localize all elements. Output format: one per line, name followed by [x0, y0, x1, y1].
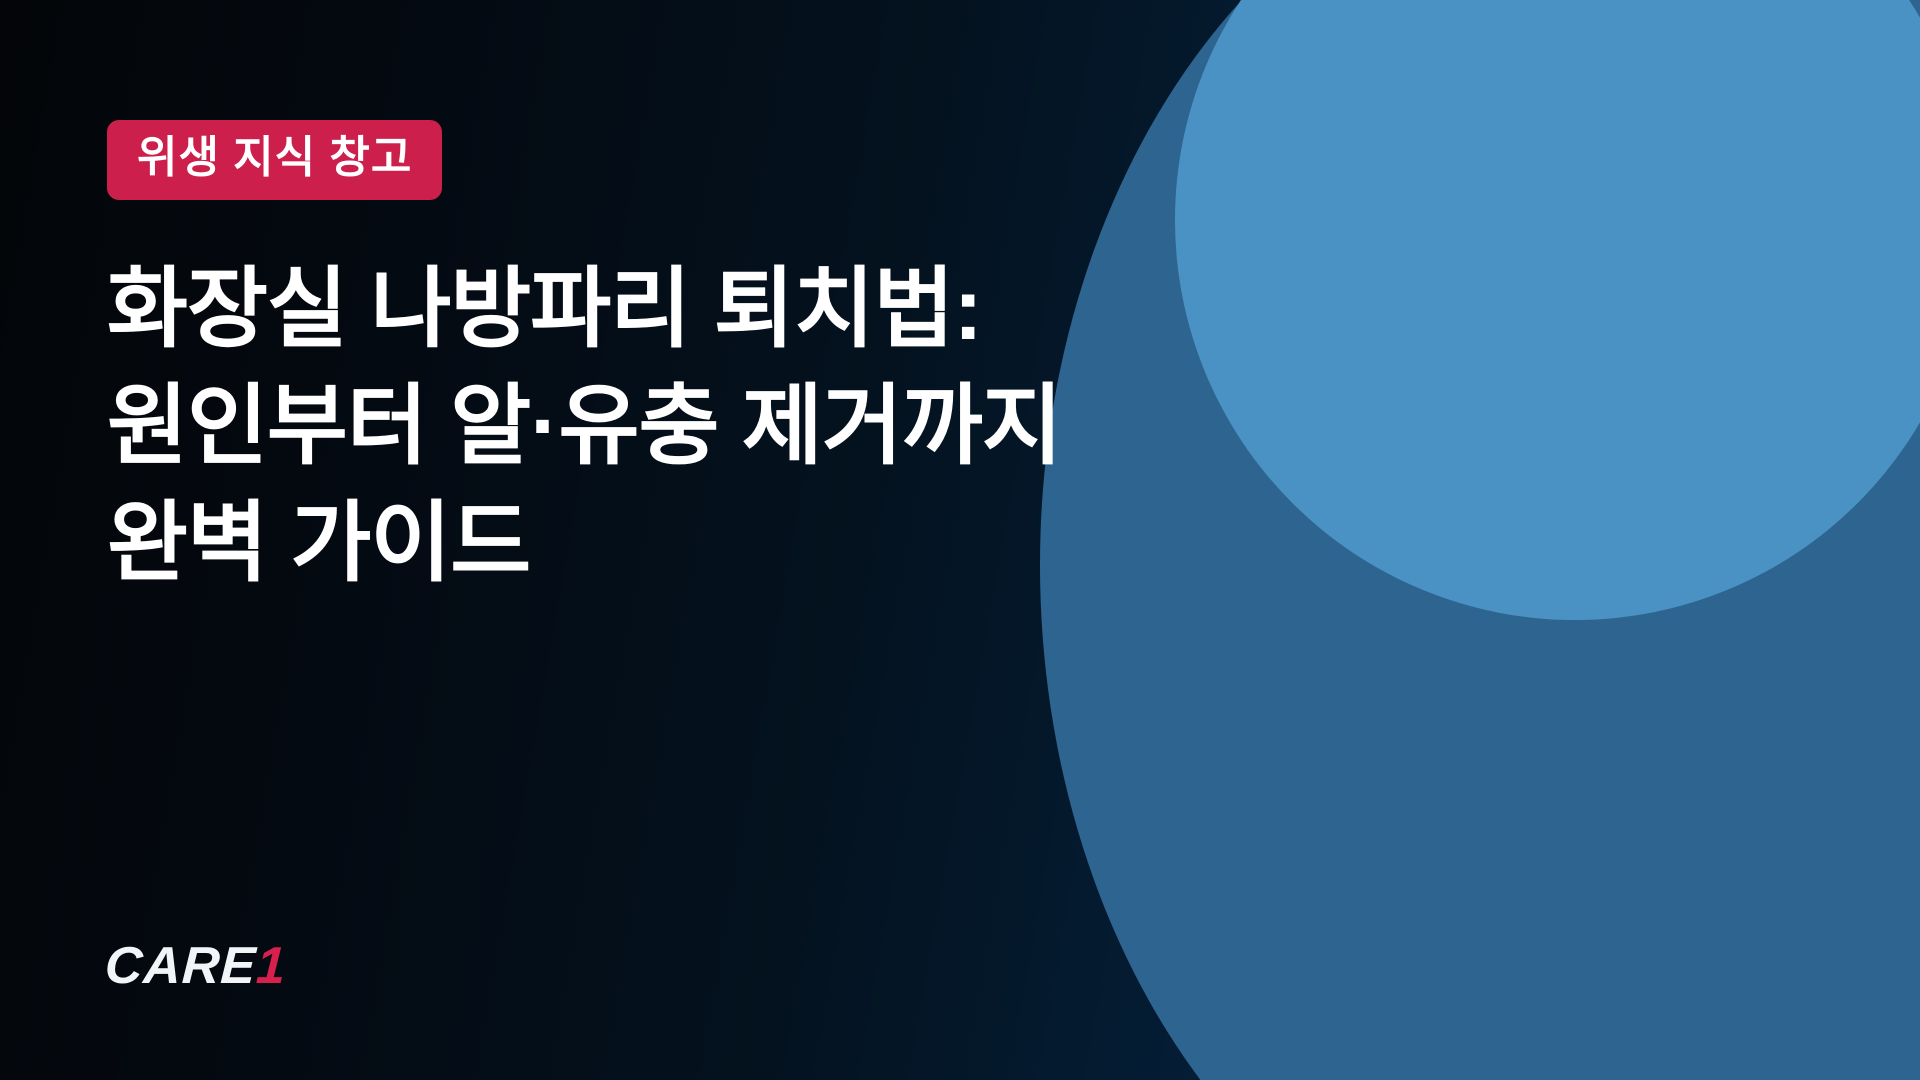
category-badge: 위생 지식 창고 [107, 120, 442, 200]
page-title: 화장실 나방파리 퇴치법: 원인부터 알·유충 제거까지 완벽 가이드 [107, 250, 1062, 601]
brand-logo-number: 1 [255, 937, 288, 995]
thumbnail-canvas: 위생 지식 창고 화장실 나방파리 퇴치법: 원인부터 알·유충 제거까지 완벽… [0, 0, 1920, 1080]
content-block: 위생 지식 창고 화장실 나방파리 퇴치법: 원인부터 알·유충 제거까지 완벽… [107, 0, 1307, 1080]
brand-logo: CARE1 [104, 940, 288, 992]
page-title-line-1: 화장실 나방파리 퇴치법: [107, 250, 1062, 367]
page-title-line-3: 완벽 가이드 [107, 484, 1062, 601]
brand-logo-word: CARE [103, 937, 257, 995]
page-title-line-2: 원인부터 알·유충 제거까지 [107, 367, 1062, 484]
